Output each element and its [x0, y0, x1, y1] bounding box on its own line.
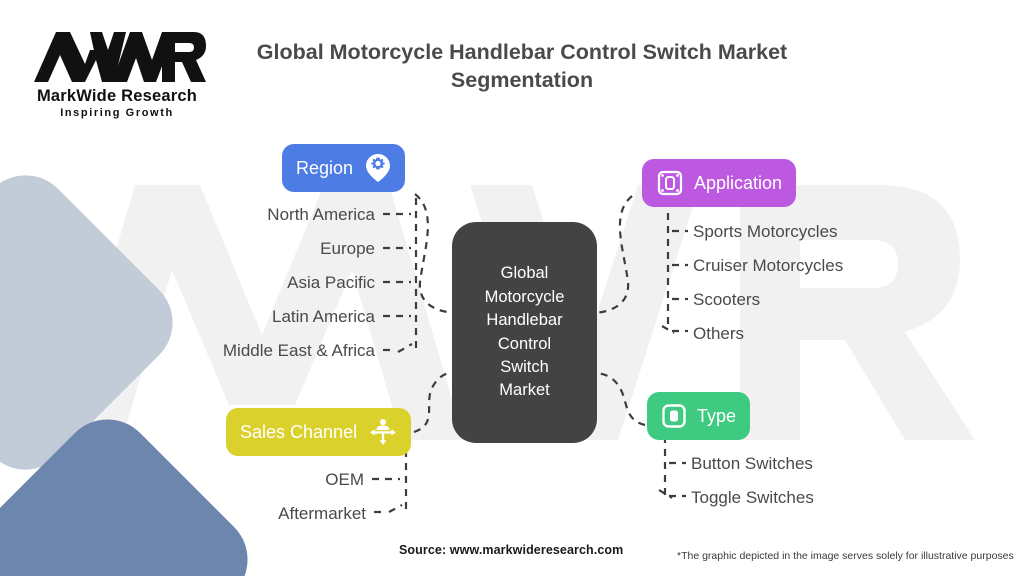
source-text: Source: www.markwideresearch.com [399, 543, 623, 557]
rounded-square-icon [661, 403, 687, 429]
branch-label-type: Type [697, 407, 736, 425]
leaf-item: Sports Motorcycles [693, 223, 838, 240]
leaf-item: Scooters [693, 291, 760, 308]
mwr-logo-mark-icon [28, 28, 206, 86]
branch-badge-region[interactable]: Region [282, 144, 405, 192]
page-title: Global Motorcycle Handlebar Control Swit… [222, 38, 822, 95]
leaf-item: Toggle Switches [691, 489, 814, 506]
infographic-canvas: MarkWide Research Inspiring Growth Globa… [0, 0, 1024, 576]
device-frame-icon [656, 169, 684, 197]
leaf-item: Latin America [155, 308, 375, 325]
leaf-item: North America [155, 206, 375, 223]
location-pin-gear-icon [365, 153, 391, 183]
leaf-item: Cruiser Motorcycles [693, 257, 843, 274]
leaf-item: OEM [160, 471, 364, 488]
center-node-label: Global Motorcycle Handlebar Control Swit… [485, 262, 565, 403]
leaf-item: Europe [155, 240, 375, 257]
logo-company-name: MarkWide Research [28, 87, 206, 106]
branch-badge-type[interactable]: Type [647, 392, 750, 440]
branch-label-region: Region [296, 159, 353, 177]
logo-tagline: Inspiring Growth [28, 107, 206, 119]
branch-badge-application[interactable]: Application [642, 159, 796, 207]
leaf-item: Aftermarket [140, 505, 366, 522]
brand-logo: MarkWide Research Inspiring Growth [28, 28, 206, 119]
branch-label-sales-channel: Sales Channel [240, 423, 357, 441]
center-node: Global Motorcycle Handlebar Control Swit… [452, 222, 597, 443]
leaf-item: Others [693, 325, 744, 342]
branch-badge-sales-channel[interactable]: Sales Channel [226, 408, 411, 456]
leaf-item: Middle East & Africa [115, 342, 375, 359]
branch-label-application: Application [694, 174, 782, 192]
disclaimer-text: *The graphic depicted in the image serve… [677, 550, 1014, 562]
leaf-item: Asia Pacific [155, 274, 375, 291]
leaf-item: Button Switches [691, 455, 813, 472]
distribution-network-icon [369, 418, 397, 446]
